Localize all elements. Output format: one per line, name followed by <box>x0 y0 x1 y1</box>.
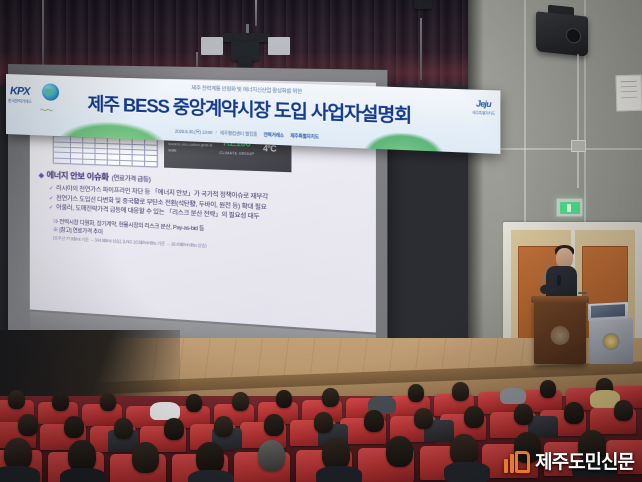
attendee-head <box>564 402 584 424</box>
ref-label-text: [참고] 연료가격 추이 <box>59 228 102 236</box>
section2-subtitle: (연료가격 급등) <box>112 175 151 184</box>
attendee-head <box>540 380 556 398</box>
attendee-head <box>514 404 533 425</box>
attendee-head <box>322 388 339 407</box>
banner-meta-separator: / <box>216 130 217 135</box>
banner-datetime: 2025.5.30.(목) 13:00 <box>175 129 213 136</box>
attendee-head <box>232 392 249 411</box>
attendee-shoulders <box>188 470 234 482</box>
presenter-head <box>556 248 573 268</box>
jeju-logo-sub: 제주특별자치도 <box>472 111 495 116</box>
lectern-emblem <box>551 326 570 345</box>
attendee-shoulders <box>500 388 526 404</box>
attendee-shoulders <box>0 466 40 482</box>
attendee-shoulders <box>316 466 362 482</box>
ceiling-speaker-icon <box>536 11 588 56</box>
stand-emblem <box>603 333 620 350</box>
attendee-head <box>408 384 424 402</box>
attendee-head <box>18 414 38 436</box>
attendee-head <box>164 418 184 440</box>
re100-logo-sub: CLIMATE GROUP <box>219 151 254 156</box>
handheld-microphone-icon <box>557 275 561 286</box>
wall-notice-paper <box>616 75 642 112</box>
check-icon: ✓ <box>49 194 53 203</box>
wall-conduit <box>577 54 579 188</box>
attendee-head <box>276 390 292 408</box>
attendee-head <box>186 394 202 412</box>
jeju-logo-word: Jeju <box>472 100 495 110</box>
banner-host-left: 전력거래소 <box>263 132 283 138</box>
newspaper-watermark: 제주도민신문 <box>504 447 634 474</box>
attendee-head <box>100 393 116 411</box>
truss-rod <box>255 0 257 26</box>
laptop-stand <box>589 318 633 364</box>
attendee-head <box>258 440 285 471</box>
conduit-junction-box <box>571 140 586 152</box>
attendee-head <box>52 392 69 411</box>
arrow-icon: ⇒ <box>53 219 58 225</box>
banner-host-right: 제주특별자치도 <box>290 133 319 139</box>
conference-hall-photo: ◆ 탄소중립 이행목표 강화 (온실가스 감축목표, 재생에너지 확대 등) ✓… <box>0 0 642 482</box>
jeju-logo: Jeju 제주특별자치도 <box>472 100 495 116</box>
attendee-head <box>414 408 433 429</box>
ref-marker-icon: ※ <box>53 227 58 233</box>
presentation-laptop <box>588 302 628 321</box>
bullet-diamond-icon: ◆ <box>39 172 44 180</box>
attendee-head <box>8 390 25 409</box>
newspaper-logo-icon <box>504 448 530 474</box>
truss-rod <box>420 18 422 80</box>
exit-sign-icon <box>556 198 583 217</box>
attendee-head <box>64 416 84 438</box>
attendee-head <box>132 442 159 473</box>
banner-venue: 제주웰컴센터 웰컴홀 <box>220 130 257 137</box>
attendee-head <box>214 416 233 437</box>
attendee-head <box>614 400 633 421</box>
attendee-head <box>364 410 384 432</box>
attendee-head <box>452 382 469 401</box>
section2-title: 에너지 안보 이슈화 <box>47 171 109 184</box>
attendee-head <box>314 412 333 433</box>
attendee-shoulders <box>60 468 106 482</box>
attendee-head <box>264 414 284 436</box>
check-icon: ✓ <box>49 185 53 194</box>
attendee-shoulders <box>444 462 490 482</box>
attendee-head <box>114 418 133 439</box>
stage-left-shadow <box>0 330 180 400</box>
attendee-head <box>386 436 413 467</box>
check-icon: ✓ <box>49 204 53 213</box>
attendee-head <box>464 406 484 428</box>
wall-edge-shadow <box>468 0 484 392</box>
wooden-lectern <box>534 300 586 364</box>
newspaper-name: 제주도민신문 <box>535 447 634 474</box>
